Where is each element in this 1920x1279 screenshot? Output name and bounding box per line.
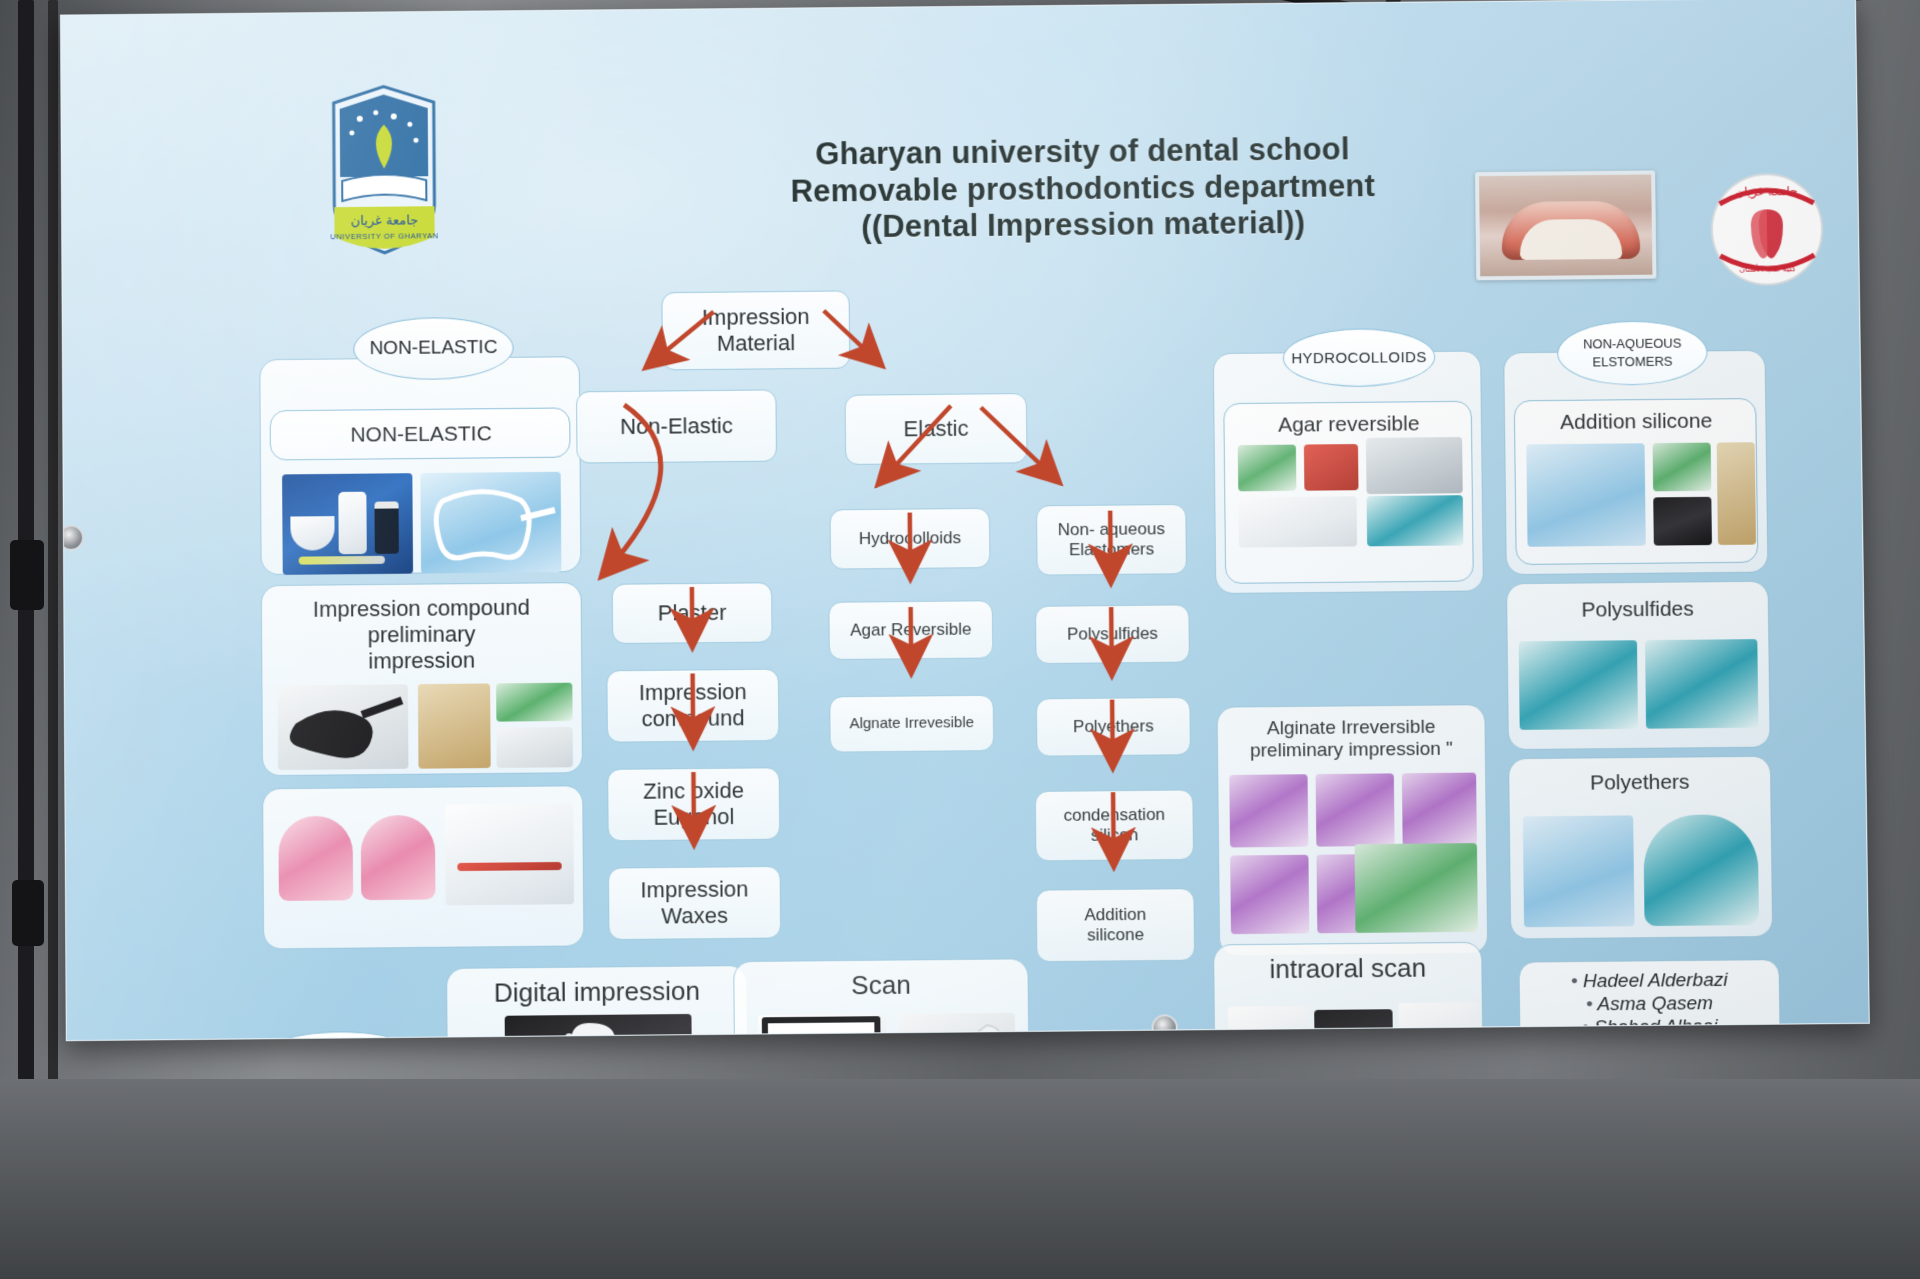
- panel-intraoral-scan-title: intraoral scan: [1213, 952, 1482, 986]
- node-elastic: Elastic: [845, 393, 1028, 465]
- node-plaster-label: Plaster: [658, 600, 727, 626]
- panel-polyethers-title: Polyethers: [1508, 770, 1771, 797]
- photo-agar-syringe: [1367, 495, 1464, 546]
- photo-polyether-impression: [1643, 814, 1759, 926]
- title-line-2: Removable prosthodontics department: [762, 167, 1403, 210]
- list-item: Hadeel Alderbazi: [1526, 969, 1773, 994]
- photo-addition-silicone-gun: [1653, 497, 1712, 546]
- photo-bowl: [290, 516, 334, 551]
- photo-tray-pink-1: [278, 816, 353, 901]
- node-addition-silicone-l1: Addition: [1084, 905, 1146, 925]
- node-hydrocolloids-label: Hydrocolloids: [859, 528, 961, 549]
- photo-polyether-package: [1523, 815, 1635, 927]
- node-elastic-label: Elastic: [903, 416, 968, 442]
- photo-spatula: [299, 556, 385, 565]
- node-impression-material-l1: Impression: [702, 304, 810, 331]
- photo-polysulfide-tubes-a: [1519, 640, 1638, 730]
- node-non-aqueous-elastomers: Non- aqueous Elastomers: [1036, 504, 1187, 576]
- card-agar-reversible-title: Agar reversible: [1224, 412, 1473, 439]
- photo-alginate-3: [1402, 773, 1477, 846]
- photo-tray-red-line: [457, 862, 561, 871]
- panel-digital-impression-title: Digital impression: [446, 975, 748, 1009]
- node-zinc-oxide-l1: Zinc oxide: [643, 778, 744, 805]
- node-impression-compound-l2: compound: [641, 705, 744, 732]
- bubble-hydrocolloids-label: HYDROCOLLOIDS: [1291, 349, 1427, 367]
- node-condensation-l2: silicon: [1091, 825, 1139, 845]
- photo-alginate-2: [1316, 773, 1395, 846]
- alginate-title-l1: Alginate Irreversible: [1225, 716, 1478, 741]
- photo-polysulfide-tubes-b: [1645, 639, 1758, 729]
- node-polyethers: Polyethers: [1036, 697, 1191, 757]
- bubble-non-aqueous-l1: NON-AQUEOUS: [1583, 335, 1682, 354]
- node-zinc-oxide-l2: Eugenol: [653, 804, 734, 830]
- photo-impression-tray: [420, 472, 561, 574]
- svg-text:كلية طب الأسنان: كلية طب الأسنان: [1739, 263, 1796, 274]
- node-addition-silicone-l2: silicone: [1087, 925, 1144, 945]
- photo-addition-silicone-green-tray: [1653, 443, 1712, 492]
- node-impression-material-l2: Material: [717, 330, 796, 356]
- node-addition-silicone: Addition silicone: [1036, 888, 1195, 962]
- title-line-1: Gharyan university of dental school: [762, 131, 1403, 174]
- photo-addition-silicone-model: [1717, 442, 1756, 545]
- list-item: Asma Qasem: [1526, 992, 1773, 1017]
- node-agar-reversible: Agar Reversible: [828, 600, 993, 660]
- photo-agar-red-block: [1304, 444, 1359, 491]
- page-title: Gharyan university of dental school Remo…: [762, 131, 1404, 247]
- alginate-title-l2: preliminary impression ": [1225, 739, 1478, 764]
- node-non-elastic: Non-Elastic: [576, 389, 777, 463]
- photo-compound-tray-black: [277, 684, 408, 770]
- panel-polysulfides-title: Polysulfides: [1506, 597, 1769, 624]
- svg-text:جامعة غريان: جامعة غريان: [1735, 184, 1797, 200]
- title-line-3: ((Dental Impression material)): [763, 204, 1404, 247]
- photo-powder-bottle: [338, 492, 366, 555]
- pole-clamp-lower: [12, 880, 44, 946]
- denture-teeth: [1520, 219, 1623, 260]
- node-condensation-silicon: condensation silicon: [1035, 789, 1194, 861]
- node-zinc-oxide-eugenol: Zinc oxide Eugenol: [607, 767, 780, 841]
- header-denture-photo: [1475, 170, 1656, 280]
- card-non-elastic-title-label: NON-ELASTIC: [271, 421, 572, 449]
- panel-impression-compound-prelim-title: Impression compound preliminary impressi…: [271, 594, 572, 675]
- node-polyethers-label: Polyethers: [1073, 716, 1154, 737]
- photo-alginate-4: [1230, 855, 1309, 934]
- node-hydrocolloids: Hydrocolloids: [830, 508, 991, 570]
- photo-alginate-1: [1229, 774, 1308, 847]
- photo-tray-workbench: [445, 803, 574, 905]
- poster: جامعة غريان UNIVERSITY OF GHARYAN Gharya…: [60, 0, 1870, 1041]
- photo-mixing-bowl-set: [282, 473, 413, 575]
- node-plaster: Plaster: [612, 582, 773, 644]
- photo-liquid-bottle: [374, 501, 398, 553]
- photo-addition-silicone-trays: [1526, 443, 1646, 547]
- node-agar-reversible-label: Agar Reversible: [850, 620, 971, 641]
- grommet-left: [60, 525, 84, 551]
- title-l1: Impression compound: [271, 594, 572, 623]
- svg-text:UNIVERSITY OF GHARYAN: UNIVERSITY OF GHARYAN: [330, 231, 438, 241]
- photo-agar-conditioner: [1238, 496, 1357, 547]
- dental-school-logo-right: جامعة غريان كلية طب الأسنان: [1685, 169, 1849, 291]
- node-alginate-irreversible-label: Algnate Irrevesible: [849, 714, 974, 733]
- university-logo-left: جامعة غريان UNIVERSITY OF GHARYAN: [314, 84, 456, 286]
- photo-agar-equipment: [1366, 437, 1463, 494]
- bubble-non-aqueous-l2: ELSTOMERS: [1592, 353, 1672, 371]
- photo-alginate-6: [1354, 843, 1477, 933]
- node-impression-waxes-l2: Waxes: [661, 903, 728, 929]
- title-l3: impression: [271, 646, 572, 675]
- node-non-aqueous-l1: Non- aqueous: [1058, 519, 1165, 540]
- node-impression-compound: Impression compound: [606, 669, 779, 743]
- node-non-elastic-label: Non-Elastic: [620, 413, 733, 440]
- photo-compound-cakes: [418, 683, 491, 768]
- bubble-non-elastic-label: NON-ELASTIC: [369, 337, 497, 360]
- photo-tray-pink-2: [361, 815, 436, 900]
- card-non-elastic-title: NON-ELASTIC: [270, 407, 571, 460]
- title-l2: preliminary: [271, 620, 572, 649]
- node-impression-compound-l1: Impression: [639, 679, 747, 706]
- panel-scan-title: Scan: [733, 968, 1029, 1002]
- svg-text:جامعة غريان: جامعة غريان: [351, 213, 419, 229]
- photo-compound-sticks: [496, 727, 573, 768]
- floor-strip: [0, 1079, 1920, 1279]
- pole-clamp-upper: [10, 540, 44, 610]
- node-impression-material: Impression Material: [661, 290, 850, 370]
- card-addition-silicone-title: Addition silicone: [1515, 409, 1758, 436]
- node-condensation-l1: condensation: [1063, 805, 1165, 826]
- panel-alginate-title: Alginate Irreversible preliminary impres…: [1225, 716, 1478, 764]
- node-polysulfides-label: Polysulfides: [1067, 624, 1158, 645]
- photo-compound-sticks-box: [496, 683, 573, 722]
- node-alginate-irreversible: Algnate Irrevesible: [829, 695, 994, 753]
- node-non-aqueous-l2: Elastomers: [1069, 539, 1154, 560]
- photo-agar-green-block: [1238, 445, 1297, 492]
- node-impression-waxes-l1: Impression: [640, 877, 748, 904]
- node-polysulfides: Polysulfides: [1035, 604, 1190, 664]
- node-impression-waxes: Impression Waxes: [608, 866, 781, 940]
